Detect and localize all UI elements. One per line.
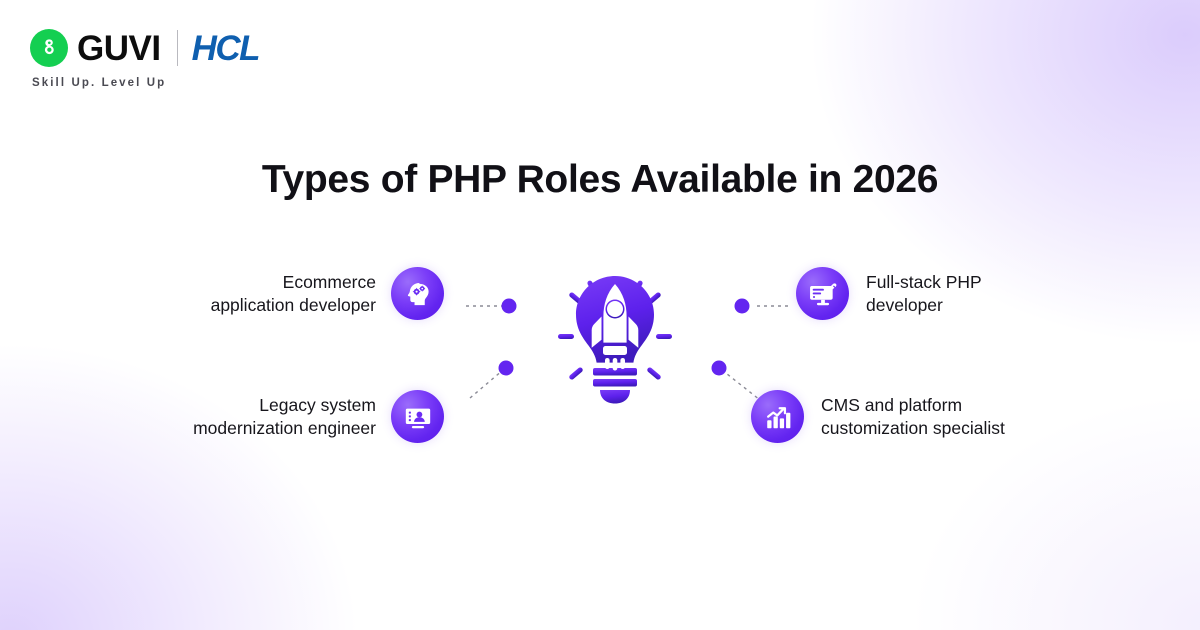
lightbulb-rocket-idea-icon	[548, 258, 682, 418]
role-node-fullstack[interactable]: Full-stack PHP developer	[796, 267, 982, 320]
brand-divider	[177, 30, 178, 66]
head-gears-icon	[391, 267, 444, 320]
brand-lockup: GUVI HCL Skill Up. Level Up	[30, 26, 259, 89]
role-label-ecommerce: Ecommerce application developer	[176, 271, 376, 316]
connector-dot-ecommerce	[502, 299, 517, 314]
id-card-profile-icon	[391, 390, 444, 443]
page-title: Types of PHP Roles Available in 2026	[0, 158, 1200, 202]
hcl-wordmark: HCL	[192, 31, 259, 66]
monitor-pen-icon	[796, 267, 849, 320]
role-label-cms: CMS and platform customization specialis…	[821, 394, 1005, 439]
infographic-canvas: GUVI HCL Skill Up. Level Up Types of PHP…	[0, 0, 1200, 630]
roles-diagram: Ecommerce application developer Legacy s…	[0, 250, 1200, 480]
connector-dot-cms	[712, 361, 727, 376]
role-label-legacy: Legacy system modernization engineer	[176, 394, 376, 439]
role-label-fullstack: Full-stack PHP developer	[866, 271, 982, 316]
role-node-cms[interactable]: CMS and platform customization specialis…	[751, 390, 1005, 443]
connector-legacy	[470, 370, 503, 398]
guvi-wordmark: GUVI	[77, 31, 161, 66]
brand-tagline: Skill Up. Level Up	[32, 77, 166, 89]
connector-dot-legacy	[499, 361, 514, 376]
role-node-legacy[interactable]: Legacy system modernization engineer	[176, 390, 444, 443]
bar-chart-growth-icon	[751, 390, 804, 443]
guvi-circle-g-icon	[30, 29, 68, 67]
brand-logo-row: GUVI HCL	[30, 26, 259, 70]
role-node-ecommerce[interactable]: Ecommerce application developer	[176, 267, 444, 320]
connector-dot-fullstack	[735, 299, 750, 314]
